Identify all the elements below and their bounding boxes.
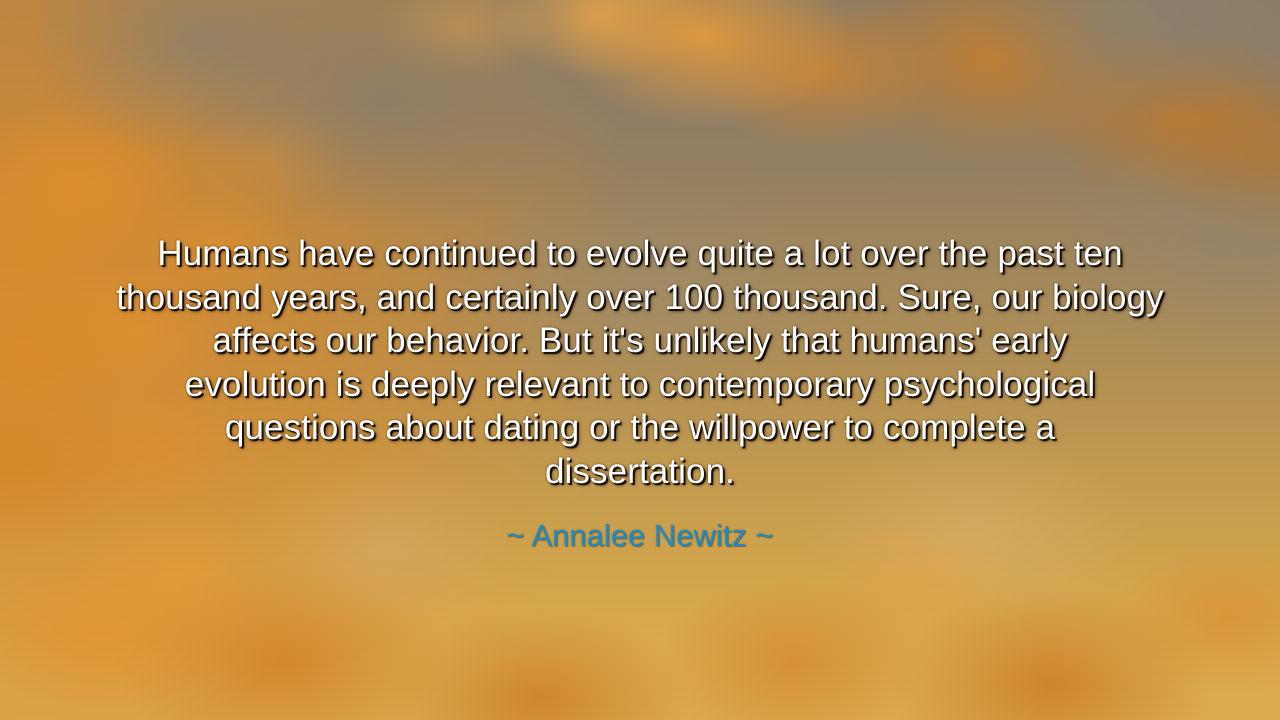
quote-attribution: ~ Annalee Newitz ~ — [506, 493, 773, 555]
quote-text: Humans have continued to evolve quite a … — [95, 232, 1185, 493]
quote-card: Humans have continued to evolve quite a … — [0, 0, 1280, 720]
quote-block: Humans have continued to evolve quite a … — [0, 232, 1280, 555]
